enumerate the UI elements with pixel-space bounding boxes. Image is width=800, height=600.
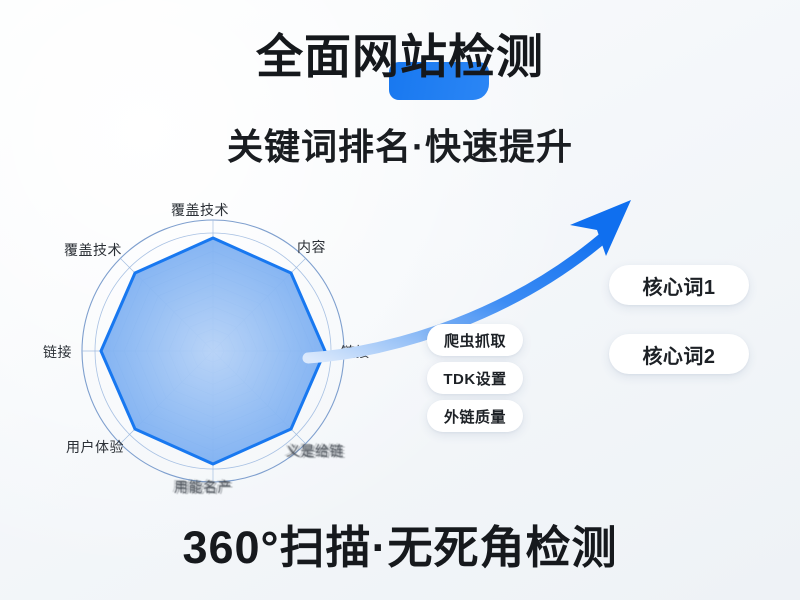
keyword-pill-label: 核心词2 — [642, 340, 715, 369]
feature-tag-label: 爬虫抓取 — [444, 330, 506, 351]
feature-tag-backlink[interactable]: 外链质量 — [427, 400, 523, 432]
headline-block: 全面网站检测 — [0, 32, 800, 83]
keyword-pill-2[interactable]: 核心词2 — [609, 334, 749, 374]
radar-label-right: 链接 — [341, 342, 370, 362]
radar-label-left: 链接 — [43, 342, 72, 362]
page-subtitle: 关键词排名·快速提升 — [0, 118, 800, 170]
radar-label-bottom-left: 用户体验 — [66, 437, 124, 457]
radar-label-top-left: 覆盖技术 — [64, 240, 122, 260]
page-footer-title: 360°扫描·无死角检测 — [0, 511, 800, 576]
poster-canvas: 全面网站检测 关键词排名·快速提升 — [0, 0, 800, 600]
page-title: 全面网站检测 — [256, 32, 544, 83]
feature-tag-label: 外链质量 — [444, 406, 506, 427]
radar-label-top-right: 内容 — [297, 237, 326, 257]
page-title-text: 全面网站检测 — [256, 30, 544, 83]
feature-tag-label: TDK设置 — [443, 368, 506, 389]
keyword-pill-label: 核心词1 — [642, 271, 715, 300]
feature-tag-crawl[interactable]: 爬虫抓取 — [427, 324, 523, 356]
radar-chart: 覆盖技术 内容 链接 义是给链 用能名产 用户体验 链接 覆盖技术 — [48, 196, 378, 506]
radar-label-bottom-right: 义是给链 — [286, 441, 344, 461]
radar-label-bottom: 用能名产 — [174, 477, 232, 497]
feature-tag-tdk[interactable]: TDK设置 — [427, 362, 523, 394]
growth-arrow-head — [570, 200, 631, 256]
radar-label-top: 覆盖技术 — [171, 200, 229, 220]
keyword-pill-1[interactable]: 核心词1 — [609, 265, 749, 305]
radar-data-polygon — [101, 238, 325, 464]
